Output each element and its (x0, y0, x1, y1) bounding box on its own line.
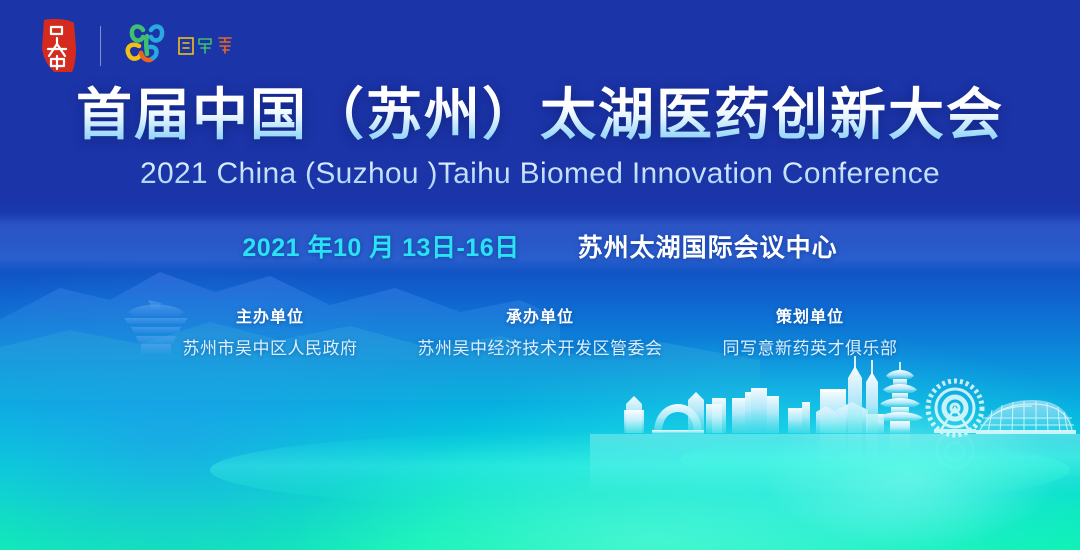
organizer-role: 承办单位 (418, 303, 663, 327)
organizer-column-planner: 策划单位 同写意新药英才俱乐部 (723, 303, 898, 359)
background-glow-left (0, 250, 480, 550)
conference-banner: 首届中国（苏州）太湖医药创新大会 2021 China (Suzhou )Tai… (0, 0, 1080, 550)
page-title-cn: 首届中国（苏州）太湖医药创新大会 (0, 84, 1080, 147)
organizer-list: 主办单位 苏州市吴中区人民政府 承办单位 苏州吴中经济技术开发区管委会 策划单位… (0, 303, 1080, 359)
low-building (624, 396, 644, 433)
twin-spire-skyscraper (820, 385, 881, 433)
low-building (816, 402, 884, 433)
wuzhong-seal-logo[interactable] (34, 18, 82, 74)
organizer-role: 策划单位 (723, 303, 898, 327)
page-title-en: 2021 China (Suzhou )Taihu Biomed Innovat… (0, 157, 1080, 191)
tongxieyi-logo[interactable] (119, 20, 239, 72)
tongxieyi-flower-icon (119, 20, 175, 72)
mid-rise-tower (688, 392, 726, 433)
title-block: 首届中国（苏州）太湖医药创新大会 2021 China (Suzhou )Tai… (0, 84, 1080, 191)
organizer-role: 主办单位 (183, 303, 358, 327)
water-glow-sweep (680, 434, 1080, 486)
background-glow-highlight (760, 400, 1060, 550)
logo-group (34, 16, 239, 76)
ferris-wheel (928, 381, 982, 435)
event-venue: 苏州太湖国际会议中心 (578, 228, 838, 264)
water-glow-sweep (210, 430, 1070, 510)
event-meta: 2021 年10 月 13日-16日 苏州太湖国际会议中心 (0, 228, 1080, 264)
arch-bridge (652, 404, 704, 434)
organizer-column-host: 主办单位 苏州市吴中区人民政府 (183, 303, 358, 359)
organizer-name: 同写意新药英才俱乐部 (723, 334, 898, 359)
logo-divider (100, 26, 101, 66)
twin-spire-skyscraper (820, 356, 878, 433)
background-glow-bottom (300, 430, 1000, 550)
event-date: 2021 年10 月 13日-16日 (242, 228, 519, 264)
organizer-name: 苏州吴中经济技术开发区管委会 (418, 334, 663, 359)
skyline-reflection (590, 434, 1080, 494)
tongxieyi-wordmark (177, 33, 239, 59)
city-skyline (624, 356, 1076, 435)
pagoda (877, 362, 923, 433)
organizer-column-undertaker: 承办单位 苏州吴中经济技术开发区管委会 (418, 303, 663, 359)
organizer-name: 苏州市吴中区人民政府 (183, 334, 358, 359)
lattice-dome-stadium (976, 400, 1076, 434)
mid-rise-tower (732, 388, 779, 433)
background-glow-right (440, 330, 1080, 550)
mid-rise-tower (788, 402, 810, 433)
skyline-reflection-shapes (820, 432, 973, 474)
